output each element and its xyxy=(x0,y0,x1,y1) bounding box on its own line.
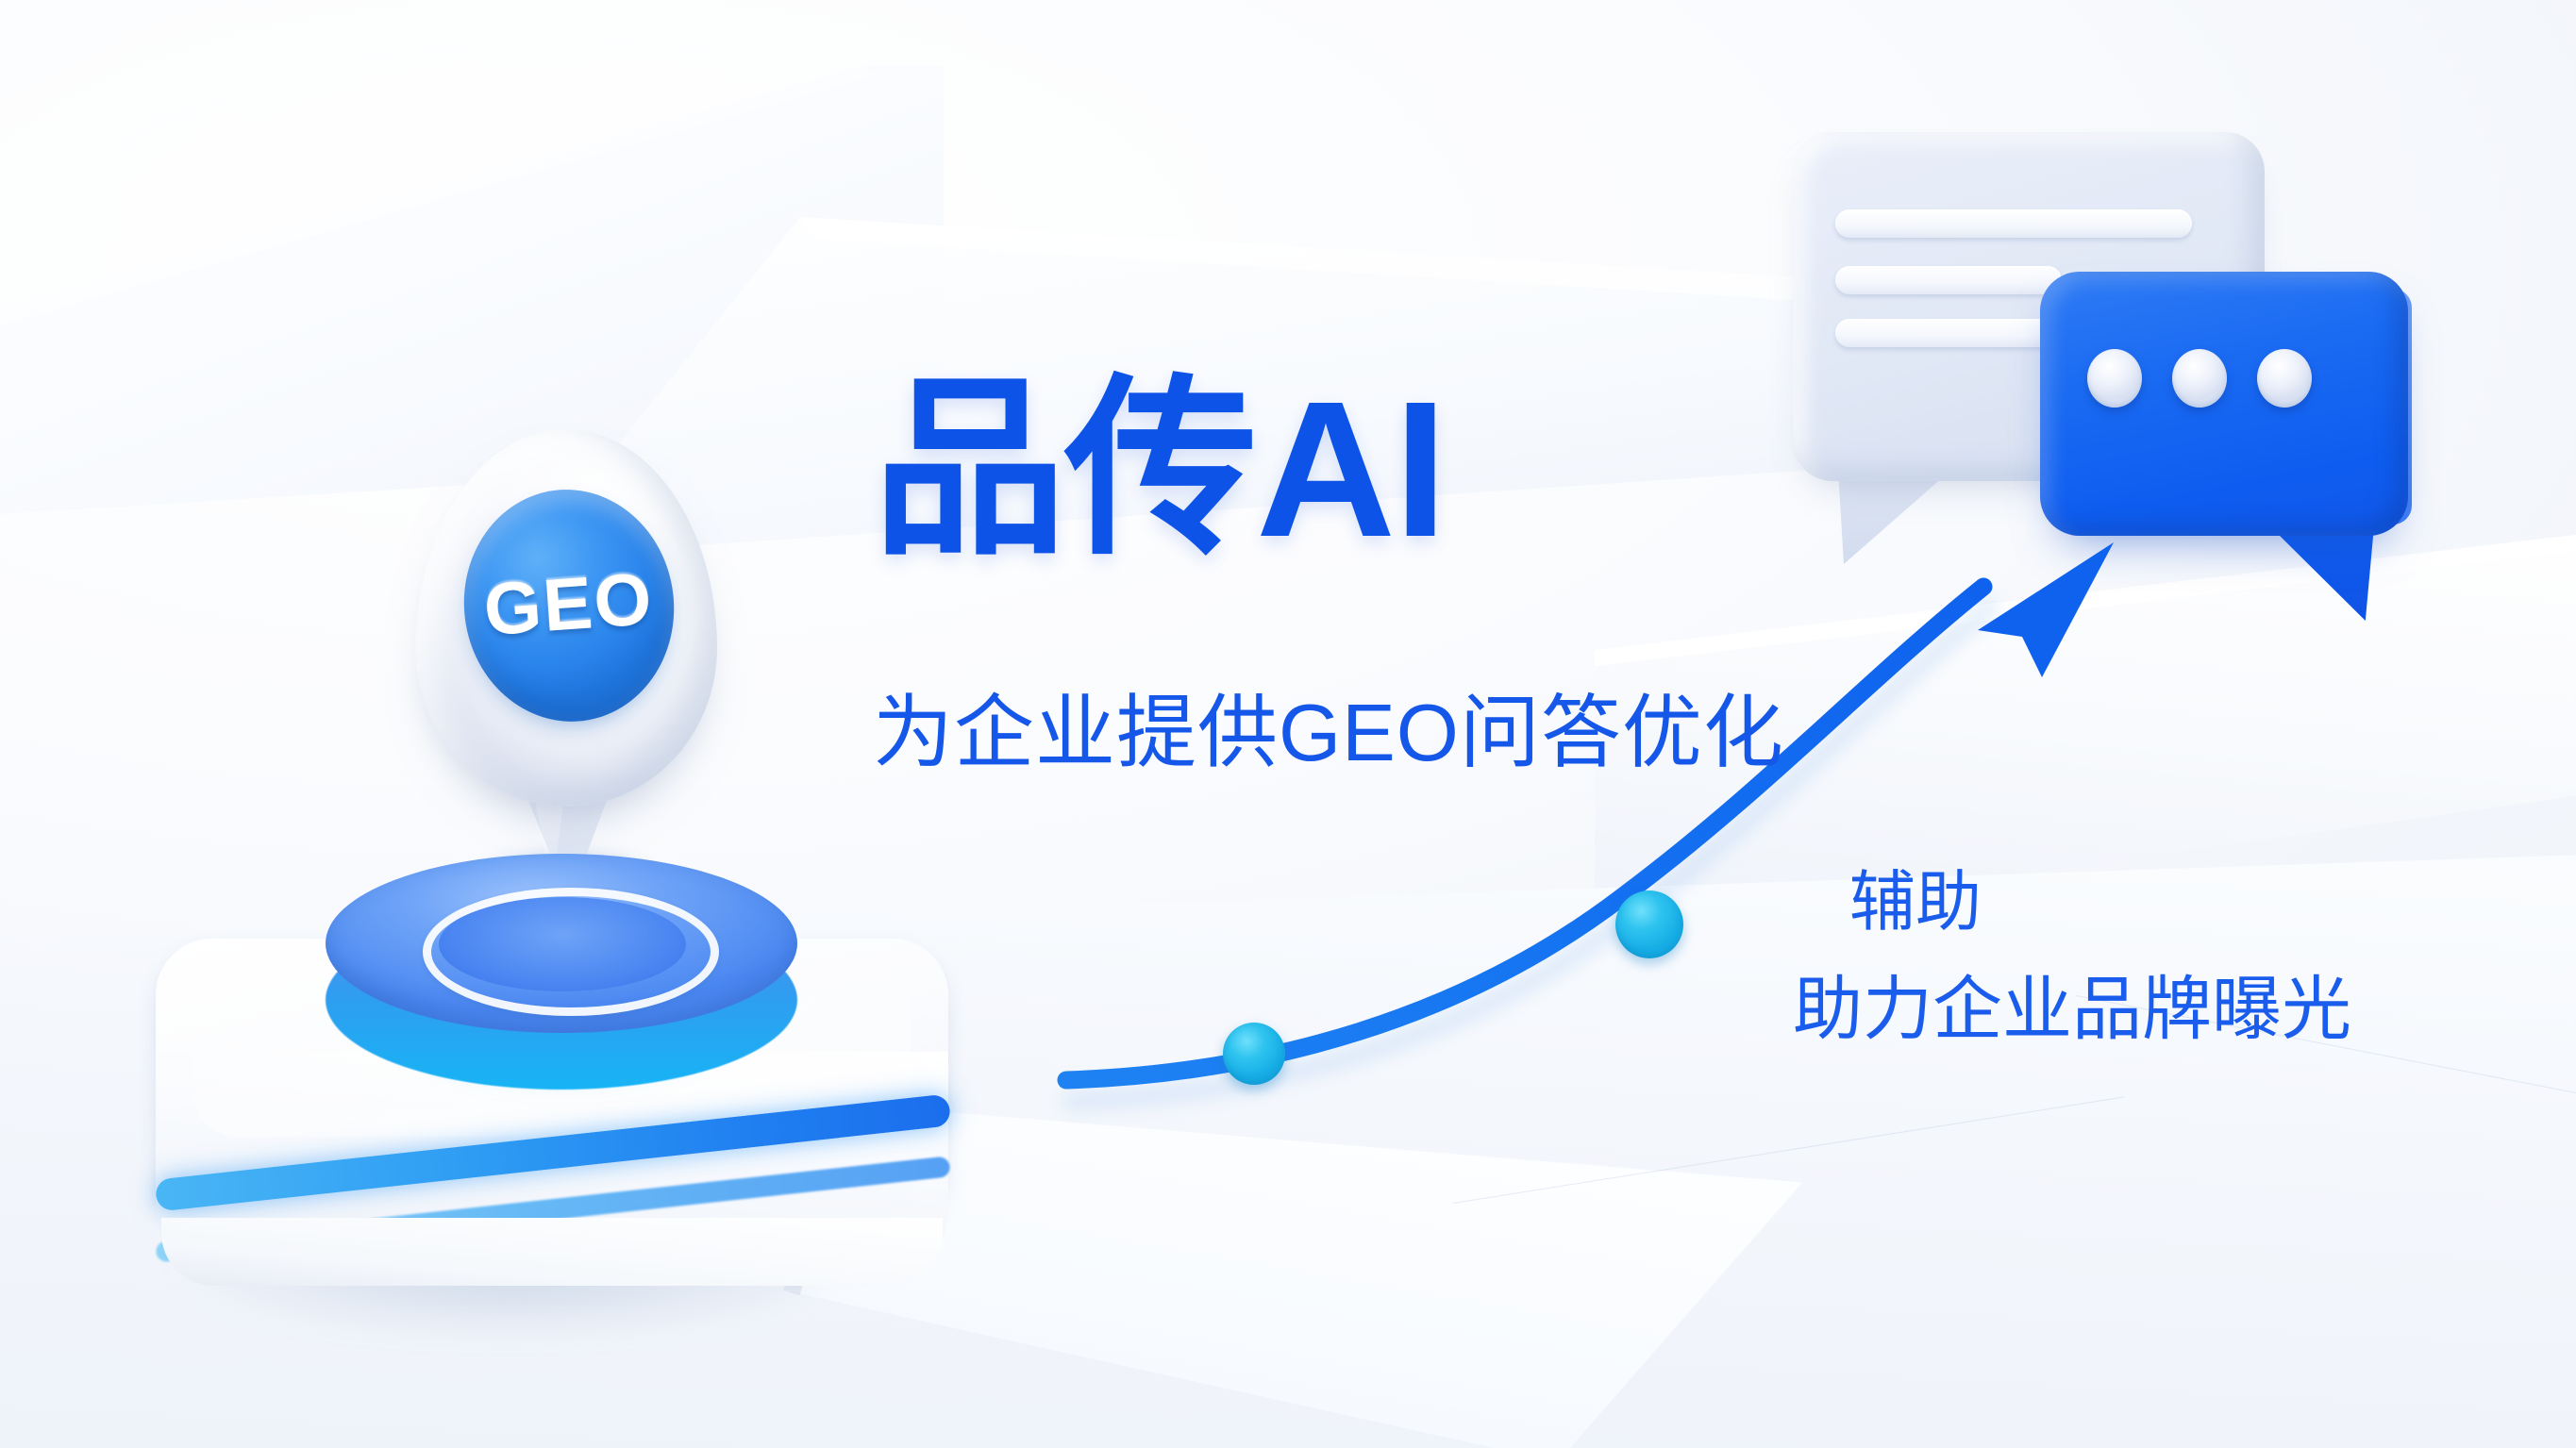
chat-bubble-text-line xyxy=(1835,266,2062,294)
typing-indicator-dot xyxy=(2172,349,2227,408)
brand-title: 品传AI xyxy=(873,373,1446,566)
chat-bubble-blue-tail xyxy=(2274,530,2378,621)
cube-bottom-lip xyxy=(161,1218,943,1286)
chat-bubble-text-line xyxy=(1835,209,2192,238)
cube-disc-ring xyxy=(423,888,719,1016)
callout-line-1: 辅助 xyxy=(1849,849,1982,944)
chat-bubble-text-line xyxy=(1835,319,2052,347)
brand-subtitle: 为企业提供GEO问答优化 xyxy=(873,693,1784,774)
pin-geo-label: GEO xyxy=(481,555,656,652)
callout-line-2: 助力企业品牌曝光 xyxy=(1793,953,2351,1054)
hero-banner: GEO xyxy=(0,0,2576,1448)
arrow-node-marker xyxy=(1615,890,1683,958)
typing-indicator-dot xyxy=(2257,349,2312,408)
typing-indicator-dot xyxy=(2087,349,2142,408)
geo-location-pin-icon: GEO xyxy=(377,429,755,920)
pedestal-cube xyxy=(156,854,967,1288)
arrow-node-marker xyxy=(1223,1023,1285,1085)
